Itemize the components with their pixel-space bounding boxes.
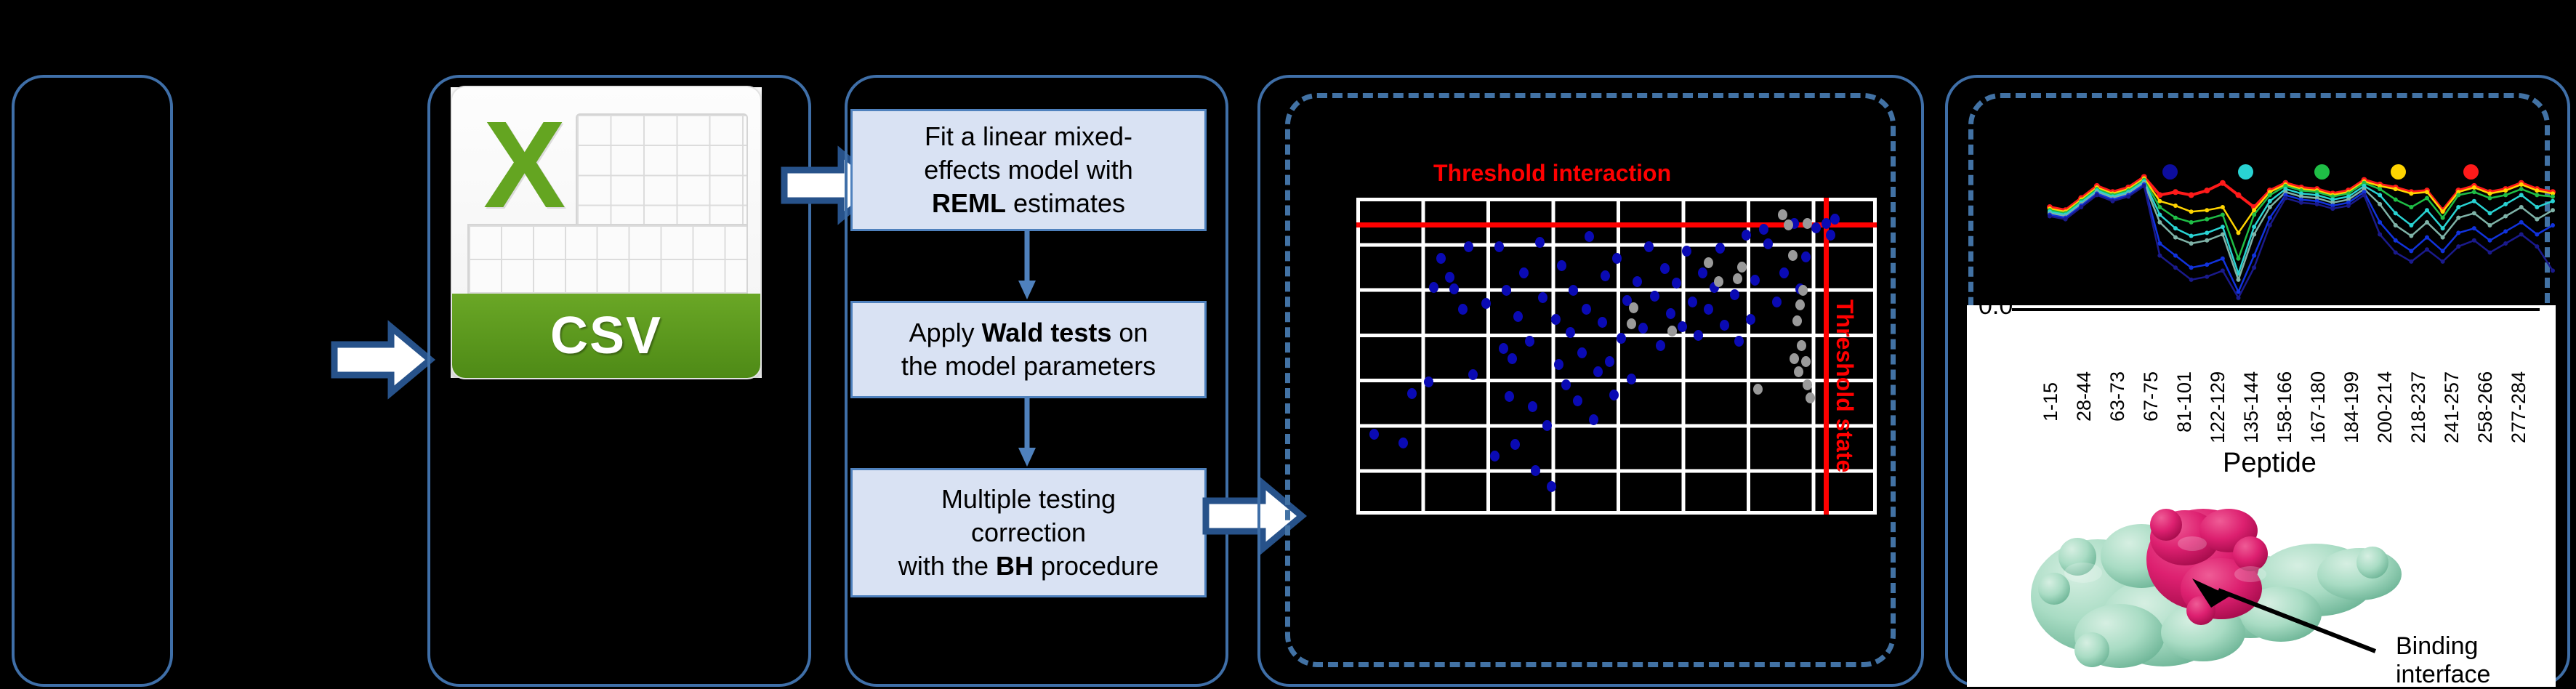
- scatter-point: [1759, 224, 1768, 235]
- wald-bold: Wald tests: [982, 318, 1112, 347]
- scatter-point: [1763, 238, 1773, 249]
- scatter-point: [1481, 298, 1491, 309]
- scatter-point: [1499, 343, 1508, 354]
- scatter-point: [1510, 439, 1520, 450]
- bh-correction-box[interactable]: Multiple testing correction with the BH …: [850, 468, 1207, 597]
- scatter-point-ns: [1667, 326, 1677, 337]
- legend-marker-4: [2391, 164, 2406, 180]
- stage-empty[interactable]: [12, 75, 173, 687]
- scatter-point: [1464, 241, 1473, 252]
- peptide-x-axis: [2012, 308, 2540, 311]
- binding-interface-line1: Binding: [2396, 632, 2490, 661]
- scatter-point: [1577, 347, 1587, 358]
- peptide-y-tick-label: 0.0: [1979, 292, 2013, 321]
- bh-line3-post: procedure: [1034, 551, 1159, 581]
- legend-marker-5: [2463, 164, 2479, 180]
- fit-model-line2: effects model with: [924, 155, 1132, 185]
- scatter-point-ns: [1737, 262, 1747, 273]
- peptide-tick-label: 158-166: [2274, 371, 2296, 443]
- scatter-point: [1638, 323, 1648, 334]
- bh-line3-pre: with the: [898, 551, 996, 581]
- legend-marker-3: [2314, 164, 2330, 180]
- scatter-point-ns: [1784, 219, 1793, 230]
- excel-x-icon: X: [467, 99, 581, 233]
- scatter-point: [1660, 263, 1670, 274]
- scatter-point: [1573, 395, 1582, 406]
- threshold-state-label: Threshold state: [1831, 299, 1858, 472]
- scatter-point: [1569, 285, 1578, 296]
- connector-wald-to-bh: [1016, 398, 1038, 468]
- scatter-point-ns: [1629, 302, 1638, 313]
- scatter-point: [1698, 267, 1707, 278]
- flow-arrow-in: [331, 320, 433, 400]
- peptide-tick-label: 200-214: [2374, 371, 2396, 443]
- scatter-point: [1369, 429, 1379, 440]
- scatter-point: [1424, 376, 1433, 387]
- scatter-point-ns: [1733, 273, 1742, 284]
- scatter-point: [1609, 390, 1619, 400]
- scatter-point-ns: [1788, 250, 1798, 261]
- scatter-point-ns: [1794, 366, 1803, 377]
- peptide-tick-label: 218-237: [2407, 371, 2430, 443]
- wald-line1-pre: Apply: [909, 318, 982, 347]
- scatter-point: [1458, 304, 1468, 315]
- scatter-point: [1830, 214, 1840, 225]
- peptide-tick-label: 167-180: [2307, 371, 2330, 443]
- scatter-point-ns: [1753, 384, 1763, 395]
- peptide-tick-label: 81-101: [2173, 371, 2196, 432]
- scatter-point: [1644, 241, 1654, 252]
- scatter-point: [1407, 388, 1417, 399]
- peptide-tick-label: 135-144: [2240, 371, 2263, 443]
- scatter-point: [1730, 289, 1739, 300]
- scatter-point: [1627, 374, 1636, 384]
- scatter-point: [1678, 321, 1687, 332]
- binding-interface-line2: interface: [2396, 661, 2490, 689]
- scatter-point: [1554, 359, 1563, 370]
- scatter-point: [1468, 369, 1478, 380]
- peptide-tick-label: 277-284: [2508, 371, 2530, 443]
- scatter-point-ns: [1790, 353, 1799, 364]
- threshold-interaction-label: Threshold interaction: [1433, 160, 1671, 187]
- scatter-point: [1542, 420, 1552, 431]
- scatter-point: [1525, 336, 1534, 347]
- fit-model-line3-rest: estimates: [1006, 188, 1125, 218]
- peptide-axis-title: Peptide: [2223, 448, 2317, 479]
- scatter-point: [1551, 314, 1561, 325]
- scatter-point: [1593, 366, 1603, 377]
- scatter-point: [1666, 308, 1675, 319]
- scatter-point: [1445, 272, 1454, 283]
- scatter-point: [1535, 237, 1545, 248]
- scatter-point: [1508, 353, 1517, 364]
- scatter-point: [1811, 222, 1821, 233]
- scatter-point: [1398, 438, 1408, 448]
- scatter-point-ns: [1714, 276, 1723, 287]
- scatter-point: [1538, 292, 1547, 303]
- peptide-tick-label: 63-73: [2106, 371, 2129, 422]
- scatter-point: [1519, 267, 1529, 278]
- scatter-point: [1502, 285, 1511, 296]
- scatter-point: [1513, 311, 1523, 322]
- scatter-point: [1688, 297, 1697, 307]
- scatter-point: [1746, 314, 1755, 325]
- scatter-point: [1449, 283, 1459, 294]
- scatter-point-ns: [1792, 315, 1802, 326]
- fit-model-line1: Fit a linear mixed-: [925, 121, 1132, 151]
- scatter-point: [1704, 304, 1713, 315]
- binding-interface-arrow: [2185, 574, 2388, 669]
- peptide-tick-label: 67-75: [2140, 371, 2162, 422]
- scatter-point-ns: [1795, 299, 1805, 310]
- scatter-point: [1633, 276, 1642, 287]
- scatter-point: [1557, 260, 1566, 271]
- csv-file-icon: X CSV: [451, 86, 762, 379]
- scatter-point: [1561, 379, 1571, 390]
- fit-model-reml: REML: [932, 188, 1006, 218]
- legend-marker-1: [2162, 164, 2178, 180]
- scatter-point-ns: [1704, 257, 1713, 268]
- scatter-point: [1734, 336, 1744, 347]
- scatter-point: [1617, 333, 1626, 344]
- peptide-figure-panel: 0.0 1-15 28-44 63-73 67-75 81-101 122-12…: [1967, 305, 2556, 687]
- scatter-point: [1436, 253, 1446, 264]
- bh-line1: Multiple testing: [941, 484, 1116, 514]
- scatter-point: [1826, 230, 1835, 241]
- wald-line2: the model parameters: [901, 351, 1156, 381]
- scatter-point: [1779, 267, 1789, 278]
- scatter-point-ns: [1797, 340, 1806, 351]
- peptide-tick-label: 184-199: [2340, 371, 2363, 443]
- scatter-point: [1801, 251, 1811, 262]
- scatter-point: [1505, 391, 1514, 402]
- wald-line1-post: on: [1111, 318, 1148, 347]
- scatter-point-ns: [1803, 379, 1812, 390]
- scatter-point: [1531, 465, 1540, 476]
- legend-marker-2: [2238, 164, 2253, 180]
- scatter-point: [1672, 278, 1681, 289]
- peptide-tick-label: 258-266: [2474, 371, 2497, 443]
- peptide-tick-label: 122-129: [2207, 371, 2229, 443]
- scatter-point: [1772, 297, 1782, 307]
- csv-band-label: CSV: [452, 294, 760, 378]
- scatter-point: [1598, 317, 1607, 328]
- scatter-point: [1750, 275, 1760, 286]
- scatter-point: [1650, 291, 1659, 302]
- scatter-point: [1742, 230, 1751, 241]
- scatter-point: [1429, 282, 1438, 293]
- peptide-tick-label: 28-44: [2073, 371, 2096, 422]
- scatter-point: [1585, 231, 1594, 242]
- spreadsheet-grid-lower-icon: [467, 224, 748, 297]
- scatter-point: [1582, 304, 1591, 315]
- scatter-point-ns: [1806, 392, 1815, 403]
- scatter-point: [1612, 253, 1622, 264]
- peptide-tick-label: 1-15: [2040, 382, 2062, 422]
- threshold-state-line: [1824, 198, 1829, 515]
- scatter-point-ns: [1803, 218, 1812, 229]
- scatter-point: [1605, 356, 1614, 367]
- scatter-point: [1656, 340, 1665, 351]
- scatter-point: [1490, 451, 1500, 462]
- scatter-point: [1547, 481, 1556, 492]
- scatter-point: [1528, 401, 1537, 412]
- scatter-plot[interactable]: [1356, 198, 1877, 515]
- connector-fit-to-wald: [1016, 231, 1038, 301]
- scatter-point: [1601, 270, 1610, 281]
- scatter-point: [1494, 241, 1504, 252]
- binding-interface-annotation: Binding interface: [2396, 632, 2490, 689]
- fit-model-box[interactable]: Fit a linear mixed- effects model with R…: [850, 109, 1207, 231]
- bh-line2: correction: [971, 517, 1086, 547]
- wald-tests-box[interactable]: Apply Wald tests on the model parameters: [850, 301, 1207, 398]
- scatter-point: [1720, 320, 1729, 331]
- scatter-point-ns: [1778, 209, 1787, 220]
- scatter-point-ns: [1801, 356, 1811, 367]
- bh-bold: BH: [996, 551, 1034, 581]
- scatter-point: [1694, 330, 1703, 341]
- peptide-tick-label: 241-257: [2441, 371, 2463, 443]
- scatter-point: [1589, 414, 1598, 425]
- scatter-point: [1682, 246, 1691, 257]
- scatter-point-ns: [1627, 318, 1636, 329]
- csv-file-card: X CSV: [451, 87, 762, 378]
- scatter-point: [1715, 243, 1725, 254]
- scatter-point: [1566, 327, 1575, 338]
- scatter-point-ns: [1798, 285, 1808, 296]
